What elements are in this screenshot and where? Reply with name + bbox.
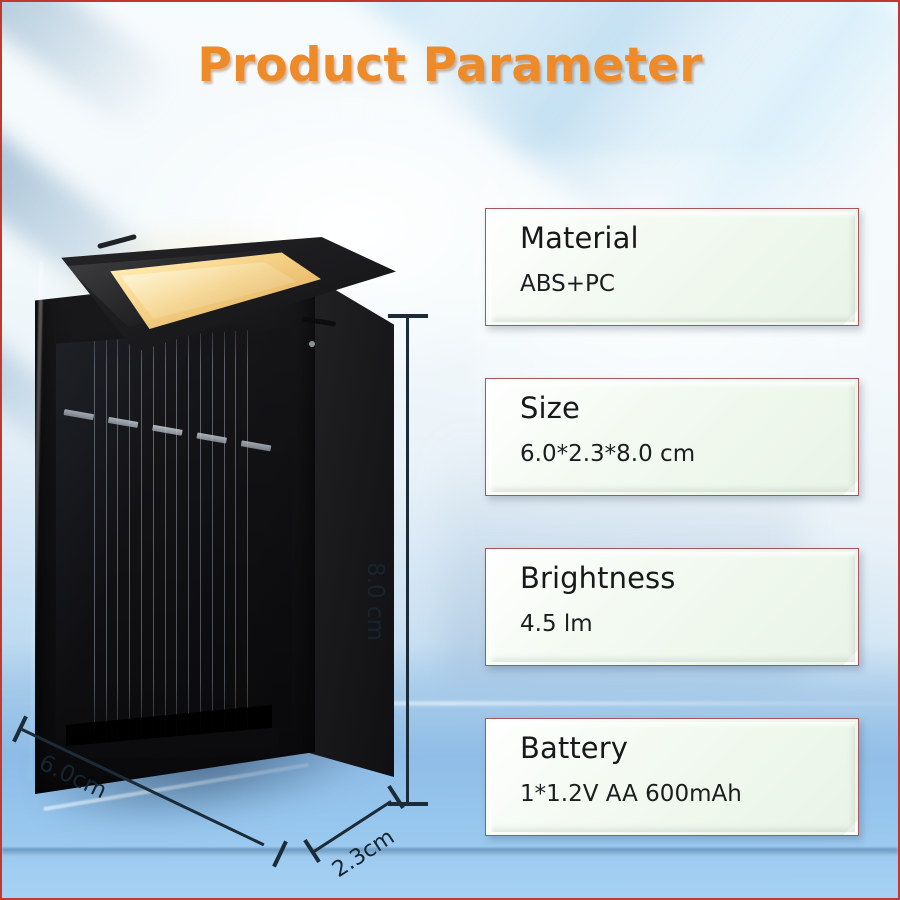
spec-card-material: Material ABS+PC bbox=[485, 208, 859, 326]
height-dimension-line bbox=[406, 314, 409, 806]
spec-card-list: Material ABS+PC Size 6.0*2.3*8.0 cm Brig… bbox=[485, 208, 859, 888]
solar-wall-light bbox=[2, 237, 422, 847]
height-dimension-cap-bottom bbox=[388, 802, 428, 806]
spec-value: 1*1.2V AA 600mAh bbox=[520, 781, 742, 807]
spec-title: Size bbox=[520, 391, 580, 425]
spec-title: Brightness bbox=[520, 561, 675, 595]
spec-title: Material bbox=[520, 221, 639, 255]
solar-panel bbox=[56, 327, 292, 747]
spec-card-battery: Battery 1*1.2V AA 600mAh bbox=[485, 718, 859, 836]
product-side-face bbox=[302, 257, 394, 777]
spec-value: ABS+PC bbox=[520, 271, 615, 297]
spec-title: Battery bbox=[520, 731, 628, 765]
spec-card-brightness: Brightness 4.5 lm bbox=[485, 548, 859, 666]
product-parameter-poster: Product Parameter bbox=[0, 0, 900, 900]
spec-value: 6.0*2.3*8.0 cm bbox=[520, 441, 695, 467]
panel-shading bbox=[56, 327, 292, 747]
spec-card-size: Size 6.0*2.3*8.0 cm bbox=[485, 378, 859, 496]
light-sensor-dot bbox=[309, 341, 315, 347]
spec-value: 4.5 lm bbox=[520, 611, 593, 637]
height-dimension-label: 8.0 cm bbox=[362, 562, 388, 641]
